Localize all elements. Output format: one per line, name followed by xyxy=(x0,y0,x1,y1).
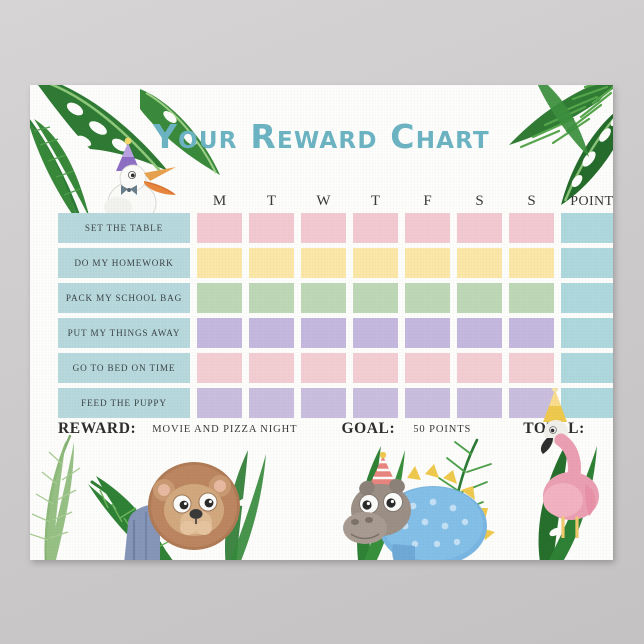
day-header-fri: F xyxy=(405,194,450,209)
points-cell[interactable] xyxy=(561,353,613,383)
checkbox-cell[interactable] xyxy=(301,213,346,243)
table-row: SET THE TABLE xyxy=(58,213,585,243)
checkbox-cell[interactable] xyxy=(509,248,554,278)
day-header-wed: W xyxy=(301,194,346,209)
checkbox-cell[interactable] xyxy=(457,248,502,278)
task-label: SET THE TABLE xyxy=(58,213,190,243)
checkbox-cell[interactable] xyxy=(509,283,554,313)
checkbox-cell[interactable] xyxy=(353,318,398,348)
checkbox-cell[interactable] xyxy=(405,318,450,348)
checkbox-cell[interactable] xyxy=(353,213,398,243)
day-header-sun: S xyxy=(509,194,554,209)
goal-value[interactable]: 50 POINTS xyxy=(413,424,471,435)
hippo-dinosaur-character xyxy=(335,452,500,560)
points-cell[interactable] xyxy=(561,213,613,243)
checkbox-cell[interactable] xyxy=(509,318,554,348)
points-cell[interactable] xyxy=(561,248,613,278)
day-header-tue: T xyxy=(249,194,294,209)
checkbox-cell[interactable] xyxy=(249,248,294,278)
checkbox-cell[interactable] xyxy=(405,388,450,418)
task-label: PACK MY SCHOOL BAG xyxy=(58,283,190,313)
points-cell[interactable] xyxy=(561,388,613,418)
checkbox-cell[interactable] xyxy=(249,213,294,243)
checkbox-cell[interactable] xyxy=(405,283,450,313)
checkbox-cell[interactable] xyxy=(197,388,242,418)
table-row: FEED THE PUPPY xyxy=(58,388,585,418)
page-title: Your Reward Chart xyxy=(30,117,613,156)
day-header-mon: M xyxy=(197,194,242,209)
checkbox-cell[interactable] xyxy=(197,353,242,383)
checkbox-cell[interactable] xyxy=(301,388,346,418)
checkbox-cell[interactable] xyxy=(353,283,398,313)
screenshot-canvas: Your Reward Chart M T W T F S S POINTS S… xyxy=(0,0,644,644)
checkbox-cell[interactable] xyxy=(197,248,242,278)
goal-label: GOAL: xyxy=(341,420,395,438)
lion-character xyxy=(120,454,255,560)
checkbox-cell[interactable] xyxy=(197,283,242,313)
checkbox-cell[interactable] xyxy=(301,353,346,383)
task-label: PUT MY THINGS AWAY xyxy=(58,318,190,348)
task-label: GO TO BED ON TIME xyxy=(58,353,190,383)
table-body: SET THE TABLEDO MY HOMEWORKPACK MY SCHOO… xyxy=(58,213,585,418)
points-header: POINTS xyxy=(561,195,613,209)
reward-value[interactable]: MOVIE AND PIZZA NIGHT xyxy=(152,424,297,435)
checkbox-cell[interactable] xyxy=(249,353,294,383)
table-row: GO TO BED ON TIME xyxy=(58,353,585,383)
table-row: PUT MY THINGS AWAY xyxy=(58,318,585,348)
checkbox-cell[interactable] xyxy=(249,388,294,418)
table-header-row: M T W T F S S POINTS xyxy=(58,185,585,209)
checkbox-cell[interactable] xyxy=(457,318,502,348)
checkbox-cell[interactable] xyxy=(353,353,398,383)
table-row: PACK MY SCHOOL BAG xyxy=(58,283,585,313)
checkbox-cell[interactable] xyxy=(353,388,398,418)
reward-table: M T W T F S S POINTS SET THE TABLEDO MY … xyxy=(58,185,585,423)
checkbox-cell[interactable] xyxy=(457,213,502,243)
checkbox-cell[interactable] xyxy=(457,353,502,383)
checkbox-cell[interactable] xyxy=(405,353,450,383)
checkbox-cell[interactable] xyxy=(509,388,554,418)
day-header-sat: S xyxy=(457,194,502,209)
checkbox-cell[interactable] xyxy=(509,353,554,383)
checkbox-cell[interactable] xyxy=(197,213,242,243)
checkbox-cell[interactable] xyxy=(509,213,554,243)
footer-row: REWARD: MOVIE AND PIZZA NIGHT GOAL: 50 P… xyxy=(58,416,585,442)
points-cell[interactable] xyxy=(561,318,613,348)
reward-label: REWARD: xyxy=(58,420,136,438)
task-label: FEED THE PUPPY xyxy=(58,388,190,418)
checkbox-cell[interactable] xyxy=(457,388,502,418)
checkbox-cell[interactable] xyxy=(301,248,346,278)
total-label: TOTAL: xyxy=(523,420,585,438)
table-row: DO MY HOMEWORK xyxy=(58,248,585,278)
points-cell[interactable] xyxy=(561,283,613,313)
checkbox-cell[interactable] xyxy=(457,283,502,313)
reward-chart-poster: Your Reward Chart M T W T F S S POINTS S… xyxy=(30,85,613,560)
checkbox-cell[interactable] xyxy=(249,283,294,313)
checkbox-cell[interactable] xyxy=(197,318,242,348)
checkbox-cell[interactable] xyxy=(301,283,346,313)
checkbox-cell[interactable] xyxy=(301,318,346,348)
task-label: DO MY HOMEWORK xyxy=(58,248,190,278)
checkbox-cell[interactable] xyxy=(353,248,398,278)
day-header-thu: T xyxy=(353,194,398,209)
checkbox-cell[interactable] xyxy=(405,213,450,243)
checkbox-cell[interactable] xyxy=(249,318,294,348)
checkbox-cell[interactable] xyxy=(405,248,450,278)
